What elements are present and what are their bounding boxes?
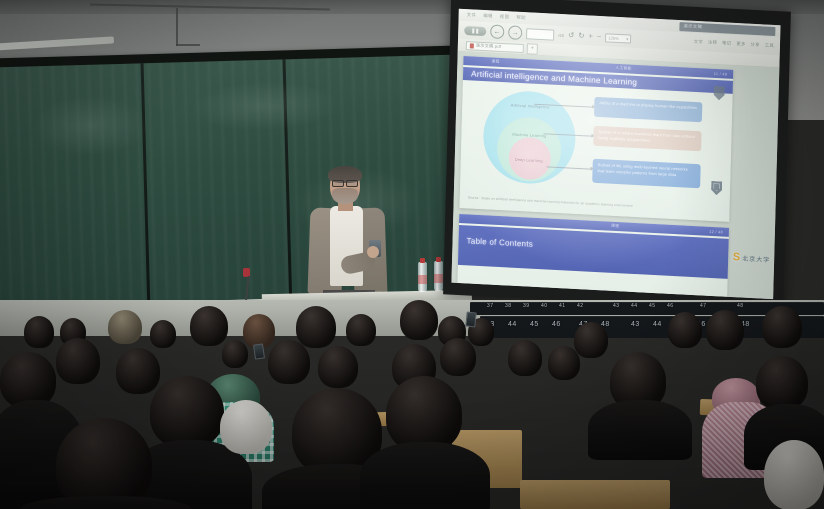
- audience-head: [56, 338, 100, 384]
- university-crest-icon: [711, 181, 722, 196]
- toolbar-text-tool[interactable]: 文字: [694, 39, 703, 45]
- eyeglasses-icon: [332, 180, 358, 185]
- slide-band-right: 11 / 48: [714, 71, 728, 76]
- toolbar-right-group[interactable]: 文字 注释 笔记 更多 分享 工具: [694, 39, 774, 49]
- seat-number: 44: [631, 303, 638, 309]
- smartphone[interactable]: [253, 343, 265, 359]
- slide-current: 课程 人工智能 11 / 48 Artificial intelligence …: [459, 56, 733, 222]
- seat-number: 39: [523, 303, 530, 309]
- audience-head: [150, 376, 224, 448]
- menu-help[interactable]: 帮助: [516, 15, 526, 21]
- audience-head: [108, 310, 142, 344]
- audience-head: [706, 310, 744, 350]
- conduit-drop: [176, 8, 178, 46]
- seat-number: 37: [487, 303, 494, 309]
- audience-head: [222, 340, 248, 368]
- audience-head: [508, 340, 542, 376]
- page-number-input[interactable]: [526, 28, 554, 40]
- zoom-level-value: 125%: [608, 35, 618, 41]
- pdf-viewport[interactable]: 课程 人工智能 11 / 48 Artificial intelligence …: [451, 52, 779, 299]
- audience-head: [346, 314, 376, 346]
- zoom-out-icon[interactable]: −: [597, 33, 602, 41]
- audience-head: [318, 346, 358, 388]
- document-tab-label: 演示文稿.pdf: [476, 43, 502, 50]
- audience-head: [668, 312, 702, 348]
- callout-machine-learning: Subset of AI where machines learn from d…: [593, 126, 701, 152]
- audience-head: [764, 440, 824, 509]
- sponsor-glyph-icon: S: [733, 252, 741, 263]
- document-tab[interactable]: 演示文稿.pdf: [466, 41, 524, 53]
- presenter-shirt: [330, 206, 363, 286]
- zoom-in-icon[interactable]: +: [588, 33, 593, 41]
- presenter-hand: [367, 246, 379, 258]
- toolbar-more-tool[interactable]: 更多: [736, 41, 745, 47]
- seat-number: 40: [541, 303, 548, 309]
- projected-image: 文件 编辑 视图 帮助 演示文稿 ← → /48 ↺ ↻ + −: [451, 9, 780, 299]
- seat-number: 41: [559, 303, 566, 309]
- projection-screen: 文件 编辑 视图 帮助 演示文稿 ← → /48 ↺ ↻ + −: [443, 0, 791, 312]
- water-bottle: [418, 262, 427, 292]
- audience-head: [548, 346, 580, 380]
- zoom-level-select[interactable]: 125% ▾: [605, 33, 631, 43]
- slide-band-center: 人工智能: [615, 66, 632, 72]
- pdf-file-icon: [470, 43, 474, 48]
- seat-number: 43: [613, 303, 620, 309]
- seat-number: 42: [577, 303, 584, 309]
- seat-number: 47: [700, 303, 707, 309]
- toolbar-tools-tool[interactable]: 工具: [765, 42, 774, 48]
- seat-number: 45: [530, 321, 539, 328]
- toolbar-share-tool[interactable]: 分享: [750, 42, 759, 48]
- audience-head: [440, 338, 476, 376]
- desk-front-panel: [520, 480, 670, 509]
- callout-artificial-intelligence: Ability of a machine to display human-li…: [594, 97, 702, 123]
- audience-head: [150, 320, 176, 348]
- audience-head: [220, 400, 272, 454]
- new-tab-icon[interactable]: +: [527, 43, 538, 55]
- audience-head: [400, 300, 438, 340]
- university-crest-icon: [713, 86, 724, 101]
- presenter-beard: [332, 188, 358, 204]
- water-bottle: [434, 261, 443, 291]
- seat-number: 44: [508, 321, 517, 328]
- slide-band-right: 12 / 48: [709, 229, 723, 234]
- audience-head: [762, 306, 802, 348]
- audience-head: [268, 340, 310, 384]
- window-title: 演示文稿: [683, 23, 702, 30]
- audience-head: [116, 348, 160, 394]
- menu-file[interactable]: 文件: [467, 12, 477, 18]
- smartphone[interactable]: [465, 312, 477, 328]
- page-total-label: /48: [558, 32, 564, 37]
- next-page-icon[interactable]: →: [508, 25, 522, 40]
- lecture-hall-photo: 文件 编辑 视图 帮助 演示文稿 ← → /48 ↺ ↻ + −: [0, 0, 824, 509]
- seat-number: 45: [649, 303, 656, 309]
- previous-page-icon[interactable]: ←: [490, 24, 504, 39]
- seat-number: 46: [552, 321, 561, 328]
- audience-head: [296, 306, 336, 348]
- sponsor-logo: S 北京大学: [733, 252, 771, 265]
- slide-next: 课程 12 / 48 Table of Contents: [457, 214, 729, 298]
- conduit-elbow: [176, 44, 200, 46]
- rotate-cw-icon[interactable]: ↻: [578, 32, 584, 40]
- seat-number: 44: [653, 321, 662, 328]
- audience-head: [756, 356, 808, 410]
- seat-number: 46: [667, 303, 674, 309]
- audience-head: [574, 322, 608, 358]
- slide-band-center: 课程: [611, 224, 619, 229]
- seat-number: 43: [631, 321, 640, 328]
- toolbar-note-tool[interactable]: 笔记: [722, 40, 731, 46]
- chevron-down-icon: ▾: [626, 36, 628, 41]
- menu-view[interactable]: 视图: [500, 14, 510, 20]
- audience-shoulders: [588, 400, 692, 460]
- chalkboard: [0, 45, 466, 326]
- seat-number: 38: [505, 303, 512, 309]
- toolbar-annotate-tool[interactable]: 注释: [708, 40, 717, 46]
- seat-number: 48: [737, 303, 744, 309]
- audience-head: [386, 376, 462, 452]
- callout-deep-learning: Subset of ML using multi-layered neural …: [592, 159, 701, 189]
- menu-edit[interactable]: 编辑: [483, 13, 493, 19]
- audience-head: [24, 316, 54, 348]
- audience-head: [190, 306, 228, 346]
- rotate-ccw-icon[interactable]: ↺: [568, 32, 574, 40]
- audience-shoulders: [360, 442, 490, 509]
- slide-band-left: 课程: [491, 59, 499, 64]
- presentation-mode-button[interactable]: [464, 26, 486, 36]
- sponsor-name: 北京大学: [742, 254, 770, 264]
- slide-footnote: Source : Study on artificial intelligenc…: [468, 195, 712, 212]
